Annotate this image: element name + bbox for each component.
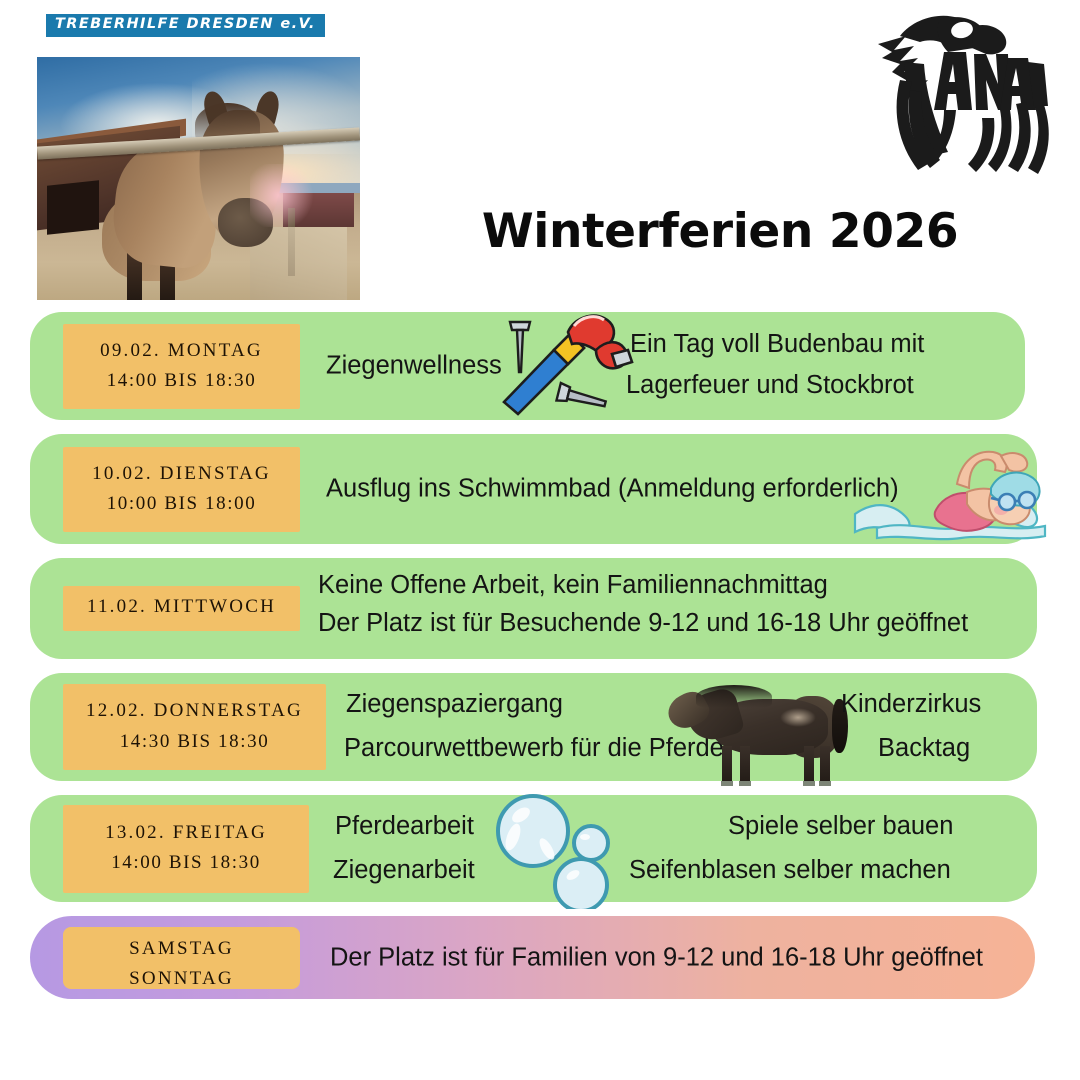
schedule-list: 09.02. MONTAG 14:00 BIS 18:30 Ziegenwell… [0, 312, 1080, 1013]
schedule-row-mittwoch[interactable]: 11.02. MITTWOCH Keine Offene Arbeit, kei… [30, 558, 1037, 659]
daybox-date: 09.02. MONTAG [63, 336, 300, 367]
panama-horse-logo [848, 6, 1058, 181]
photo-sun-flare [250, 164, 321, 227]
activity-text: Der Platz ist für Besuchende 9-12 und 16… [318, 610, 968, 637]
daybox-time: 14:00 BIS 18:30 [63, 366, 300, 397]
photo-barn-door [47, 181, 99, 235]
activity-text: Ausflug ins Schwimmbad (Anmeldung erford… [326, 476, 899, 503]
daybox-mittwoch: 11.02. MITTWOCH [63, 586, 300, 631]
pony-leg [804, 746, 814, 784]
soap-bubbles-icon [489, 791, 631, 909]
pony-leg [722, 746, 732, 784]
daybox-date: 11.02. MITTWOCH [63, 592, 300, 623]
activity-text: Ziegenarbeit [333, 857, 475, 884]
horse-at-fence-photo [37, 57, 360, 300]
schedule-row-weekend[interactable]: SAMSTAG SONNTAG Der Platz ist für Famili… [30, 916, 1035, 999]
daybox-time: 14:00 BIS 18:30 [63, 848, 309, 879]
daybox-date: 13.02. FREITAG [63, 818, 309, 849]
row-content: Ausflug ins Schwimmbad (Anmeldung erford… [300, 434, 1037, 544]
row-content: Keine Offene Arbeit, kein Familiennachmi… [300, 558, 1037, 659]
activity-text: Pferdearbeit [335, 813, 474, 840]
row-content: Ziegenspaziergang Parcourwettbewerb für … [326, 673, 1037, 781]
daybox-date: 10.02. DIENSTAG [63, 459, 300, 490]
row-content: Ziegenwellness [300, 312, 1025, 420]
daybox-dienstag: 10.02. DIENSTAG 10:00 BIS 18:00 [63, 447, 300, 532]
daybox-samstag: SAMSTAG [63, 934, 300, 965]
activity-text: Ziegenwellness [326, 353, 502, 380]
activity-text: Der Platz ist für Familien von 9-12 und … [330, 944, 983, 971]
row-content: Der Platz ist für Familien von 9-12 und … [300, 916, 1035, 999]
schedule-row-montag[interactable]: 09.02. MONTAG 14:00 BIS 18:30 Ziegenwell… [30, 312, 1025, 420]
pony-leg [820, 746, 830, 784]
daybox-time: 10:00 BIS 18:00 [63, 489, 300, 520]
pony-hoof [739, 781, 750, 786]
schedule-row-dienstag[interactable]: 10.02. DIENSTAG 10:00 BIS 18:00 Ausflug … [30, 434, 1037, 544]
daybox-sonntag: SONNTAG [63, 964, 300, 995]
daybox-time: 14:30 BIS 18:30 [63, 727, 326, 758]
activity-text: Backtag [878, 735, 970, 762]
hammer-and-nails-icon [488, 310, 638, 420]
page-title: Winterferien 2026 [400, 204, 1040, 259]
daybox-donnerstag: 12.02. DONNERSTAG 14:30 BIS 18:30 [63, 684, 326, 770]
activity-text: Spiele selber bauen [728, 813, 953, 840]
activity-text: Ein Tag voll Budenbau mit [630, 331, 924, 358]
pony-hoof [721, 781, 732, 786]
pony-mane [696, 685, 772, 709]
activity-text: Kinderzirkus [841, 691, 981, 718]
activity-text: Seifenblasen selber machen [629, 857, 951, 884]
activity-text: Ziegenspaziergang [346, 691, 563, 718]
pony-photo [656, 668, 856, 786]
activity-text: Keine Offene Arbeit, kein Familiennachmi… [318, 572, 828, 599]
daybox-freitag: 13.02. FREITAG 14:00 BIS 18:30 [63, 805, 309, 893]
pony-hoof [819, 781, 830, 786]
treberhilfe-logo-banner: TREBERHILFE DRESDEN e.V. [46, 14, 325, 37]
pony-hoof [803, 781, 814, 786]
daybox-date: 12.02. DONNERSTAG [63, 696, 326, 727]
swimmer-icon [849, 442, 1059, 542]
daybox-weekend: SAMSTAG SONNTAG [63, 927, 300, 989]
pony-highlight [780, 708, 816, 727]
poster-header: TREBERHILFE DRESDEN e.V. [0, 0, 1080, 312]
schedule-row-donnerstag[interactable]: 12.02. DONNERSTAG 14:30 BIS 18:30 Ziegen… [30, 673, 1037, 781]
schedule-row-freitag[interactable]: 13.02. FREITAG 14:00 BIS 18:30 Pferdearb… [30, 795, 1037, 902]
daybox-montag: 09.02. MONTAG 14:00 BIS 18:30 [63, 324, 300, 409]
pony-leg [740, 746, 750, 784]
row-content: Pferdearbeit Ziegenarbeit [309, 795, 1037, 902]
activity-text: Lagerfeuer und Stockbrot [626, 372, 914, 399]
